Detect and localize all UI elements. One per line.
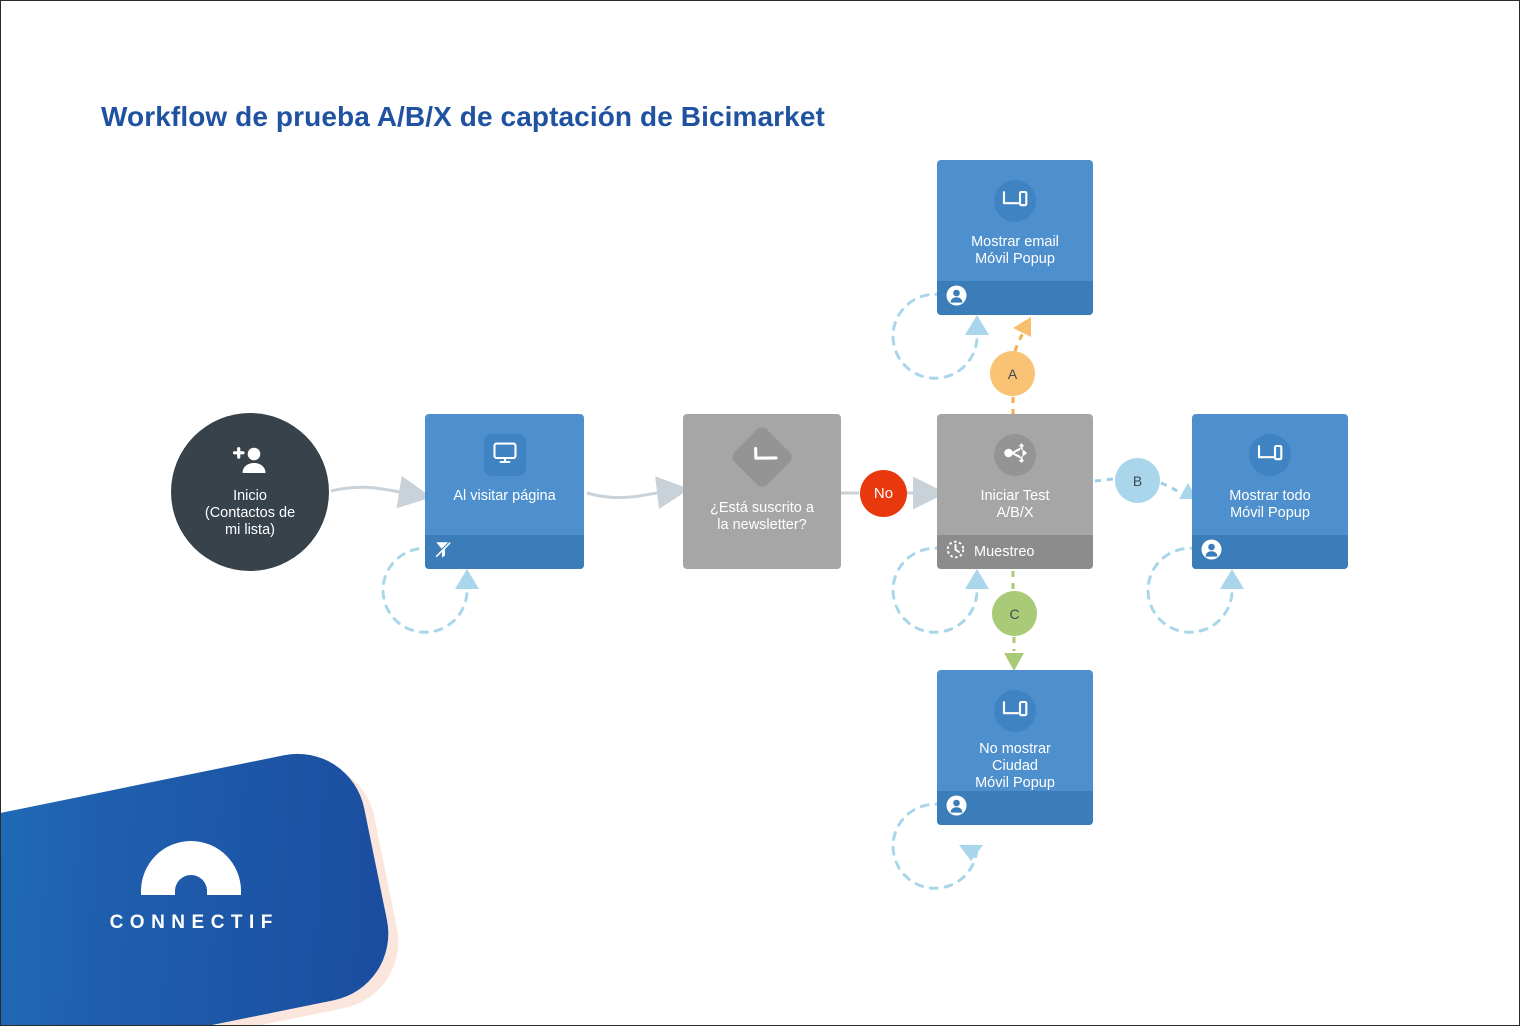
arrowhead-variant-a xyxy=(1013,317,1031,337)
loop-arrowhead-no-show-city xyxy=(959,845,983,861)
node-start[interactable]: Inicio (Contactos de mi lista) xyxy=(171,413,329,571)
node-show-email-popup-footer[interactable] xyxy=(937,281,1093,315)
badge-variant-a[interactable]: A xyxy=(990,351,1035,396)
node-start-test-label: Iniciar Test A/B/X xyxy=(972,488,1057,522)
node-start-label: Inicio (Contactos de mi lista) xyxy=(205,488,295,539)
sampling-clock-icon xyxy=(946,540,965,564)
badge-variant-c[interactable]: C xyxy=(992,591,1037,636)
devices-icon-wrap xyxy=(994,690,1036,732)
contact-icon xyxy=(946,795,967,821)
node-visit-page-label: Al visitar página xyxy=(445,488,563,505)
page-title: Workflow de prueba A/B/X de captación de… xyxy=(101,101,825,133)
loop-arrowhead-email-popup xyxy=(965,315,989,335)
badge-no[interactable]: No xyxy=(860,470,907,517)
logo: CONNECTIF xyxy=(101,841,281,934)
loop-arrowhead-show-all xyxy=(1220,569,1244,589)
loop-arrowhead-visit-page xyxy=(455,569,479,589)
badge-variant-b[interactable]: B xyxy=(1115,458,1160,503)
node-show-email-popup-label: Mostrar email Móvil Popup xyxy=(963,234,1067,268)
node-no-show-city-popup-footer[interactable] xyxy=(937,791,1093,825)
node-no-show-city-popup[interactable]: No mostrar Ciudad Móvil Popup xyxy=(937,670,1093,825)
edge-variant-a-to-email-popup xyxy=(1015,327,1027,351)
contact-icon xyxy=(946,285,967,311)
check-diamond-icon-wrap xyxy=(729,424,794,489)
node-no-show-city-popup-label: No mostrar Ciudad Móvil Popup xyxy=(967,741,1063,792)
node-show-all-popup[interactable]: Mostrar todo Móvil Popup xyxy=(1192,414,1348,569)
node-start-test-footer[interactable]: Muestreo xyxy=(937,535,1093,569)
workflow-canvas: Workflow de prueba A/B/X de captación de… xyxy=(0,0,1520,1026)
node-visit-page-footer[interactable] xyxy=(425,535,584,569)
connectif-arch-icon xyxy=(141,841,241,900)
node-visit-page[interactable]: Al visitar página xyxy=(425,414,584,569)
filter-off-icon xyxy=(434,540,453,564)
contact-icon xyxy=(1201,539,1222,565)
devices-icon xyxy=(1257,443,1283,468)
edge-variant-b-to-show-all xyxy=(1161,483,1183,494)
monitor-icon-wrap xyxy=(484,434,526,476)
node-is-subscribed[interactable]: ¿Está suscrito a la newsletter? xyxy=(683,414,841,569)
split-branch-icon xyxy=(1003,442,1028,469)
node-start-test-footer-label: Muestreo xyxy=(974,544,1034,560)
devices-icon-wrap xyxy=(994,180,1036,222)
edge-visit-page-to-condition xyxy=(587,492,663,498)
arrowhead-variant-c xyxy=(1004,653,1024,671)
logo-wordmark: CONNECTIF xyxy=(103,912,279,934)
node-show-all-popup-label: Mostrar todo Móvil Popup xyxy=(1221,488,1318,522)
node-show-email-popup[interactable]: Mostrar email Móvil Popup xyxy=(937,160,1093,315)
edge-test-to-variant-b xyxy=(1095,479,1113,481)
devices-icon-wrap xyxy=(1249,434,1291,476)
add-people-icon xyxy=(233,446,267,479)
monitor-icon xyxy=(493,442,517,469)
devices-icon xyxy=(1002,699,1028,724)
edge-start-to-visit-page xyxy=(331,487,405,493)
split-branch-icon-wrap xyxy=(994,434,1036,476)
loop-arrowhead-start-test xyxy=(965,569,989,589)
devices-icon xyxy=(1002,189,1028,214)
node-show-all-popup-footer[interactable] xyxy=(1192,535,1348,569)
check-diamond-icon xyxy=(744,439,780,475)
node-is-subscribed-label: ¿Está suscrito a la newsletter? xyxy=(702,500,822,534)
node-start-test[interactable]: Iniciar Test A/B/X Muestreo xyxy=(937,414,1093,569)
